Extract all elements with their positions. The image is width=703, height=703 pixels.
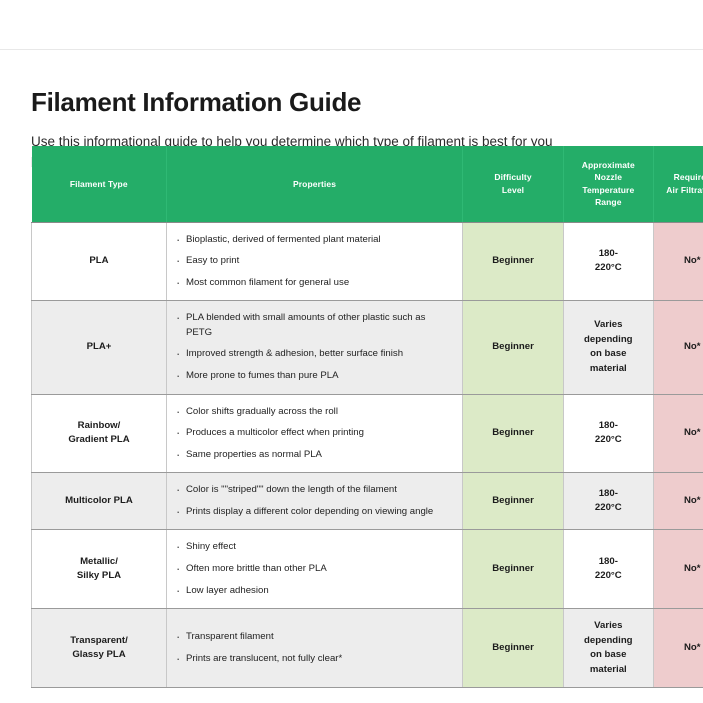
- cell-properties: Color is ""striped"" down the length of …: [166, 473, 462, 530]
- filament-table-container: Filament Type Properties Difficulty Leve…: [31, 146, 703, 688]
- header-line: Temperature: [582, 185, 634, 195]
- temperature-line: 220°C: [595, 262, 622, 273]
- filament-type-line: Glassy PLA: [72, 649, 125, 660]
- property-bullet: Prints display a different color dependi…: [175, 505, 454, 520]
- filament-type-line: PLA+: [87, 341, 112, 352]
- cell-nozzle-temperature: 180-220°C: [564, 222, 654, 301]
- property-bullet: Bioplastic, derived of fermented plant m…: [175, 233, 454, 248]
- cell-difficulty-level: Beginner: [463, 609, 564, 688]
- table-row: Multicolor PLAColor is ""striped"" down …: [32, 473, 703, 530]
- temperature-line: 220°C: [595, 502, 622, 513]
- cell-properties: Shiny effectOften more brittle than othe…: [166, 530, 462, 609]
- property-bullet: Often more brittle than other PLA: [175, 562, 454, 577]
- properties-list: Color shifts gradually across the rollPr…: [175, 405, 454, 463]
- properties-list: Bioplastic, derived of fermented plant m…: [175, 233, 454, 291]
- property-bullet: Easy to print: [175, 254, 454, 269]
- temperature-line: depending: [584, 334, 633, 345]
- cell-properties: Bioplastic, derived of fermented plant m…: [166, 222, 462, 301]
- column-header-nozzle-temperature: Approximate Nozzle Temperature Range: [564, 146, 654, 222]
- cell-air-filtration: No*: [653, 222, 703, 301]
- property-bullet: PLA blended with small amounts of other …: [175, 311, 454, 340]
- property-bullet: Improved strength & adhesion, better sur…: [175, 347, 454, 362]
- cell-air-filtration: No*: [653, 530, 703, 609]
- temperature-line: Varies: [594, 620, 622, 631]
- temperature-line: 220°C: [595, 570, 622, 581]
- property-bullet: Most common filament for general use: [175, 276, 454, 291]
- properties-list: PLA blended with small amounts of other …: [175, 311, 454, 383]
- property-bullet: Shiny effect: [175, 540, 454, 555]
- property-bullet: Prints are translucent, not fully clear*: [175, 652, 454, 667]
- column-header-air-filtration: Requires Air Filtration: [653, 146, 703, 222]
- temperature-line: Varies: [594, 319, 622, 330]
- properties-list: Shiny effectOften more brittle than othe…: [175, 540, 454, 598]
- cell-difficulty-level: Beginner: [463, 530, 564, 609]
- cell-nozzle-temperature: Variesdependingon basematerial: [564, 609, 654, 688]
- table-header-row: Filament Type Properties Difficulty Leve…: [32, 146, 703, 222]
- table-row: PLA+PLA blended with small amounts of ot…: [32, 301, 703, 394]
- header-line: Level: [502, 185, 524, 195]
- header-line: Air Filtration: [666, 185, 703, 195]
- filament-type-line: Metallic/: [80, 556, 118, 567]
- header-line: Range: [595, 197, 621, 207]
- temperature-line: 180-: [599, 420, 618, 431]
- header-line: Requires: [674, 172, 703, 182]
- header-line: Properties: [293, 179, 336, 189]
- temperature-line: 180-: [599, 556, 618, 567]
- header-line: Filament Type: [70, 179, 128, 189]
- cell-nozzle-temperature: 180-220°C: [564, 473, 654, 530]
- page-title: Filament Information Guide: [0, 50, 703, 117]
- cell-difficulty-level: Beginner: [463, 222, 564, 301]
- properties-list: Color is ""striped"" down the length of …: [175, 483, 454, 519]
- property-bullet: Produces a multicolor effect when printi…: [175, 426, 454, 441]
- temperature-line: on base: [590, 348, 626, 359]
- table-row: Rainbow/Gradient PLAColor shifts gradual…: [32, 394, 703, 473]
- cell-filament-type: PLA: [32, 222, 167, 301]
- property-bullet: Transparent filament: [175, 630, 454, 645]
- filament-type-line: Multicolor PLA: [65, 495, 133, 506]
- cell-properties: Color shifts gradually across the rollPr…: [166, 394, 462, 473]
- cell-difficulty-level: Beginner: [463, 473, 564, 530]
- cell-air-filtration: No*: [653, 473, 703, 530]
- property-bullet: More prone to fumes than pure PLA: [175, 369, 454, 384]
- table-header: Filament Type Properties Difficulty Leve…: [32, 146, 703, 222]
- column-header-filament-type: Filament Type: [32, 146, 167, 222]
- cell-air-filtration: No*: [653, 609, 703, 688]
- cell-properties: Transparent filamentPrints are transluce…: [166, 609, 462, 688]
- column-header-difficulty-level: Difficulty Level: [463, 146, 564, 222]
- property-bullet: Color shifts gradually across the roll: [175, 405, 454, 420]
- temperature-line: 180-: [599, 248, 618, 259]
- column-header-properties: Properties: [166, 146, 462, 222]
- table-row: Metallic/Silky PLAShiny effectOften more…: [32, 530, 703, 609]
- property-bullet: Same properties as normal PLA: [175, 448, 454, 463]
- property-bullet: Low layer adhesion: [175, 584, 454, 599]
- property-bullet: Color is ""striped"" down the length of …: [175, 483, 454, 498]
- table-body: PLABioplastic, derived of fermented plan…: [32, 222, 703, 688]
- filament-type-line: Gradient PLA: [68, 434, 129, 445]
- table-row: PLABioplastic, derived of fermented plan…: [32, 222, 703, 301]
- filament-type-line: Rainbow/: [78, 420, 121, 431]
- filament-type-line: Silky PLA: [77, 570, 121, 581]
- temperature-line: material: [590, 363, 627, 374]
- temperature-line: depending: [584, 635, 633, 646]
- cell-nozzle-temperature: 180-220°C: [564, 530, 654, 609]
- cell-filament-type: Metallic/Silky PLA: [32, 530, 167, 609]
- header-line: Nozzle: [595, 172, 623, 182]
- cell-filament-type: Multicolor PLA: [32, 473, 167, 530]
- filament-type-line: PLA: [89, 255, 108, 266]
- temperature-line: on base: [590, 649, 626, 660]
- cell-air-filtration: No*: [653, 394, 703, 473]
- page-root: Filament Information Guide Use this info…: [0, 0, 703, 703]
- cell-properties: PLA blended with small amounts of other …: [166, 301, 462, 394]
- table-row: Transparent/Glassy PLATransparent filame…: [32, 609, 703, 688]
- cell-filament-type: Rainbow/Gradient PLA: [32, 394, 167, 473]
- temperature-line: material: [590, 664, 627, 675]
- properties-list: Transparent filamentPrints are transluce…: [175, 630, 454, 666]
- header-line: Difficulty: [494, 172, 531, 182]
- top-chrome-bar: [0, 0, 703, 49]
- filament-type-line: Transparent/: [70, 635, 128, 646]
- cell-filament-type: Transparent/Glassy PLA: [32, 609, 167, 688]
- filament-guide-table: Filament Type Properties Difficulty Leve…: [31, 146, 703, 688]
- temperature-line: 220°C: [595, 434, 622, 445]
- cell-air-filtration: No*: [653, 301, 703, 394]
- cell-nozzle-temperature: 180-220°C: [564, 394, 654, 473]
- cell-difficulty-level: Beginner: [463, 301, 564, 394]
- header-line: Approximate: [582, 160, 635, 170]
- temperature-line: 180-: [599, 488, 618, 499]
- cell-difficulty-level: Beginner: [463, 394, 564, 473]
- cell-filament-type: PLA+: [32, 301, 167, 394]
- cell-nozzle-temperature: Variesdependingon basematerial: [564, 301, 654, 394]
